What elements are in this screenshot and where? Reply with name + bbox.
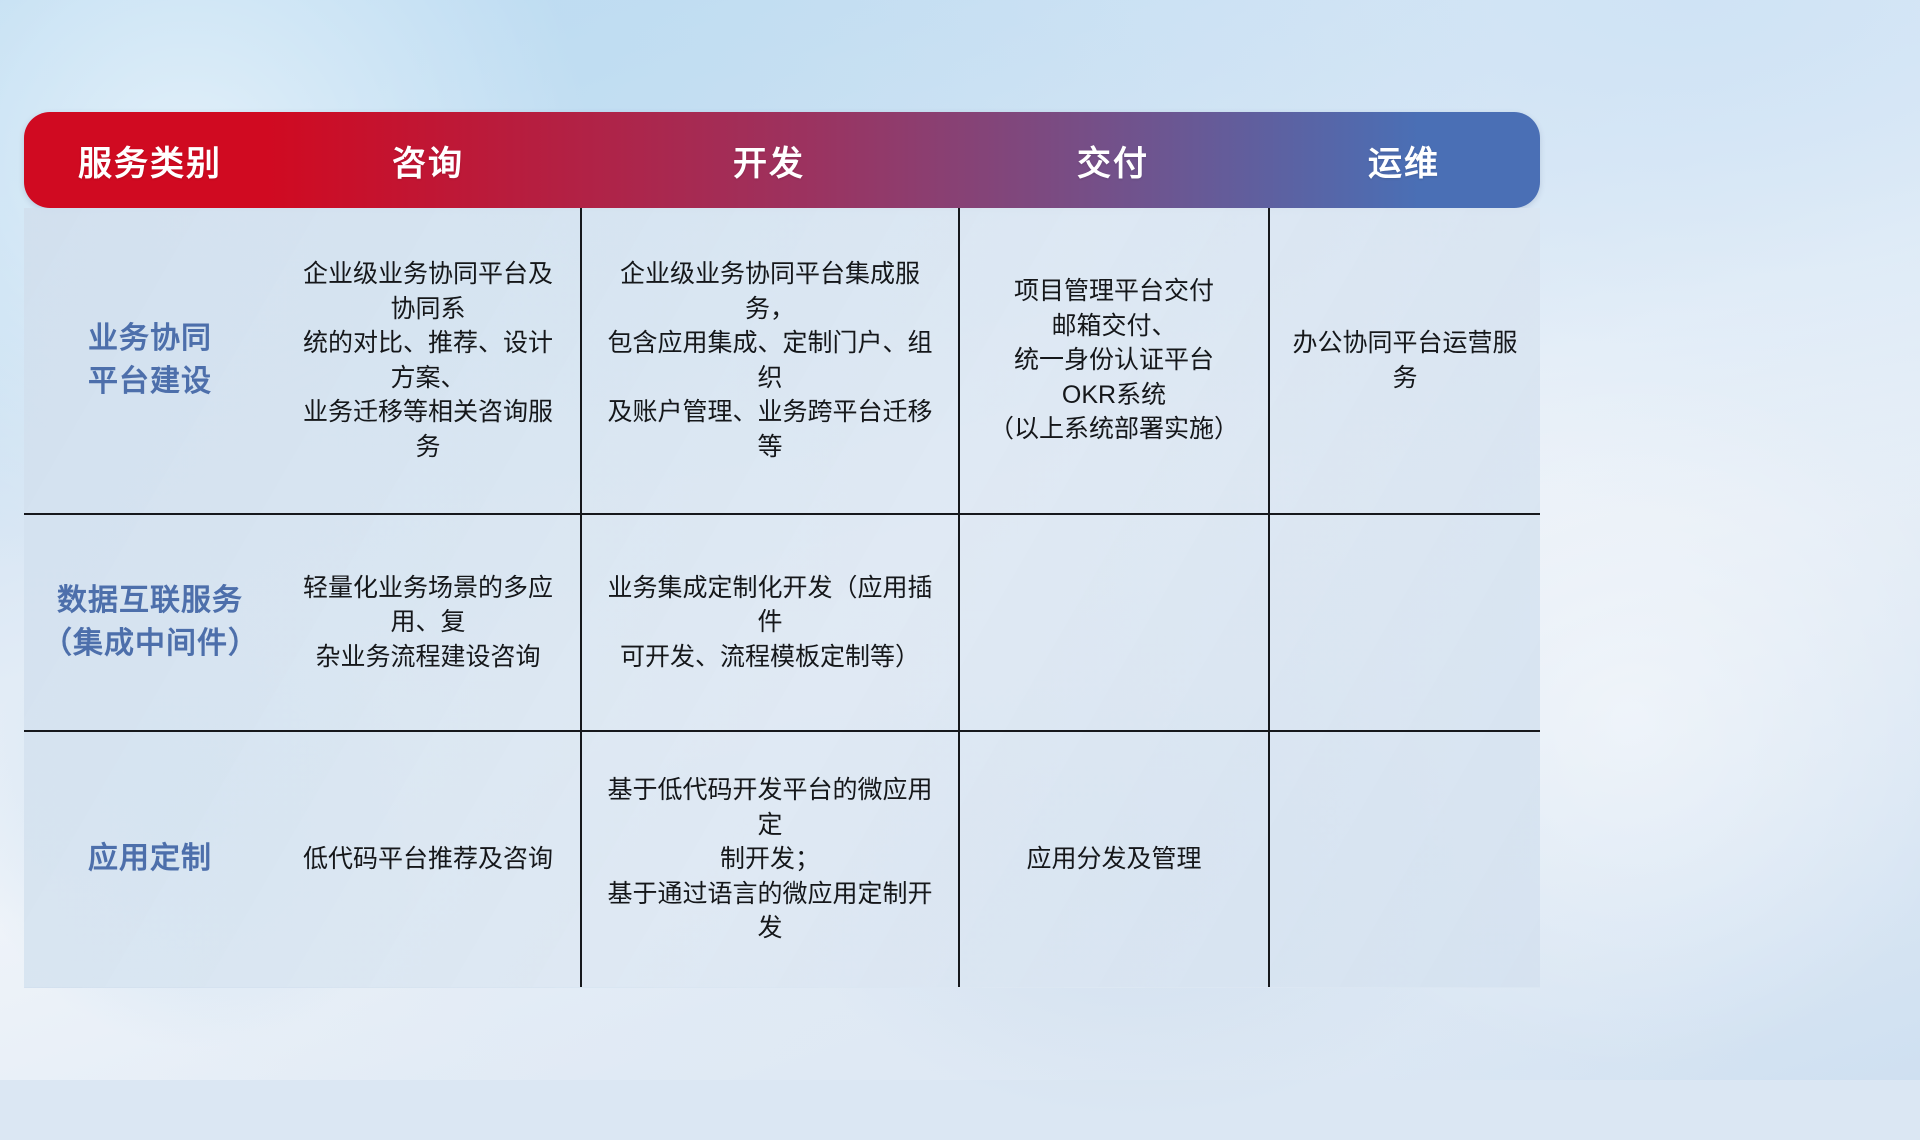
cell-development: 基于低代码开发平台的微应用定 制开发； 基于通过语言的微应用定制开发 (580, 732, 958, 987)
header-cell-service-category: 服务类别 (24, 112, 276, 208)
table-body: 业务协同 平台建设 企业级业务协同平台及协同系 统的对比、推荐、设计方案、 业务… (24, 208, 1540, 988)
row-category-label: 业务协同 平台建设 (24, 208, 276, 513)
table-row: 应用定制 低代码平台推荐及咨询 基于低代码开发平台的微应用定 制开发； 基于通过… (24, 730, 1540, 987)
cell-consulting: 低代码平台推荐及咨询 (276, 732, 580, 987)
cell-development: 企业级业务协同平台集成服务， 包含应用集成、定制门户、组织 及账户管理、业务跨平… (580, 208, 958, 513)
cell-delivery: 项目管理平台交付 邮箱交付、 统一身份认证平台 OKR系统 （以上系统部署实施） (958, 208, 1268, 513)
row-category-label: 应用定制 (24, 732, 276, 987)
cell-operations: 办公协同平台运营服务 (1268, 208, 1540, 513)
cell-development: 业务集成定制化开发（应用插件 可开发、流程模板定制等） (580, 515, 958, 730)
table-row: 业务协同 平台建设 企业级业务协同平台及协同系 统的对比、推荐、设计方案、 业务… (24, 208, 1540, 513)
cell-operations (1268, 732, 1540, 987)
table-row: 数据互联服务 （集成中间件） 轻量化业务场景的多应用、复 杂业务流程建设咨询 业… (24, 513, 1540, 730)
header-cell-operations: 运维 (1268, 112, 1540, 208)
table-header-row: 服务类别 咨询 开发 交付 运维 (24, 112, 1540, 208)
cell-delivery (958, 515, 1268, 730)
header-cell-development: 开发 (580, 112, 958, 208)
header-cell-consulting: 咨询 (276, 112, 580, 208)
cell-operations (1268, 515, 1540, 730)
service-matrix-table: 服务类别 咨询 开发 交付 运维 业务协同 平台建设 企业级业务协同平台及协同系… (24, 112, 1540, 988)
row-category-label: 数据互联服务 （集成中间件） (24, 515, 276, 730)
cell-delivery: 应用分发及管理 (958, 732, 1268, 987)
header-cell-delivery: 交付 (958, 112, 1268, 208)
cell-consulting: 企业级业务协同平台及协同系 统的对比、推荐、设计方案、 业务迁移等相关咨询服务 (276, 208, 580, 513)
cell-consulting: 轻量化业务场景的多应用、复 杂业务流程建设咨询 (276, 515, 580, 730)
